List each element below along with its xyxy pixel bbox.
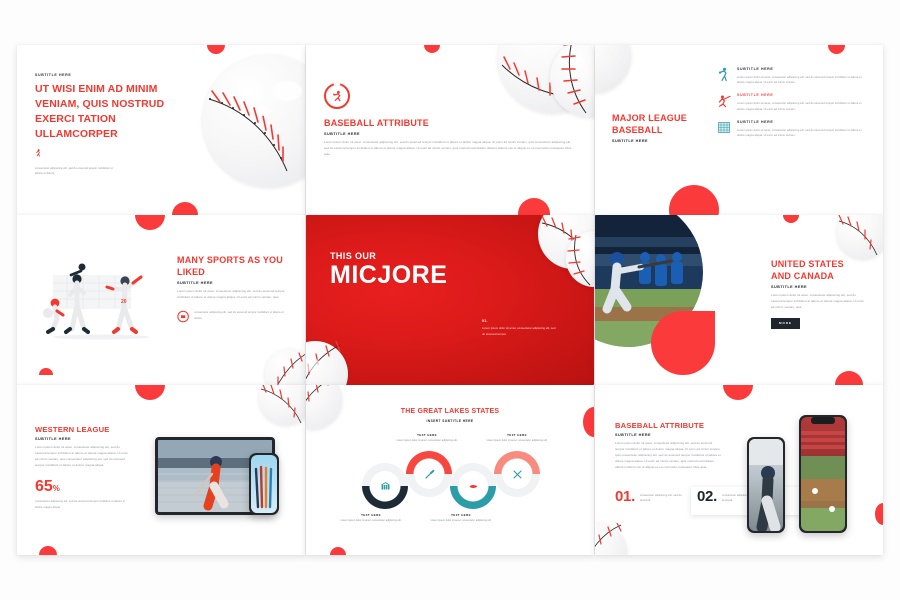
section-title: WESTERN LEAGUE — [35, 425, 129, 435]
status-badge: 65% — [35, 479, 129, 495]
slide-many-sports[interactable]: 20 MANY SPORTS AS YOU LIKED SUBTITLE HER… — [17, 215, 305, 385]
svg-text:20: 20 — [121, 299, 127, 305]
blob-top — [783, 215, 799, 223]
blob-top — [723, 385, 753, 400]
feature-heading: SUBTITLE HERE — [737, 120, 869, 124]
step-arc-2[interactable] — [406, 451, 452, 497]
title-body-text: consectetur adipiscing elit, sed do eius… — [35, 166, 113, 177]
step-label-3: TEXT HERE Lorem ipsum dolor sit amet, co… — [430, 513, 492, 523]
step-label: TEXT HERE — [430, 513, 492, 517]
phone-screen-small — [749, 439, 783, 531]
usca-text-block: UNITED STATES AND CANADA SUBTITLE HERE L… — [771, 259, 865, 329]
section-body-text: Lorem ipsum dolor sit amet, consectetur … — [177, 289, 287, 301]
blob-bottom-small — [39, 368, 53, 375]
blob-bottom — [172, 202, 198, 215]
young-batter-photo[interactable] — [747, 437, 785, 533]
stat-unit: % — [53, 484, 60, 493]
blob-bottom — [330, 547, 346, 555]
western-text-block: WESTERN LEAGUE SUBTITLE HERE Lorem ipsum… — [35, 425, 129, 510]
more-button[interactable]: MORE — [771, 318, 800, 329]
hero-title-block: THIS OUR MICJORE — [330, 251, 447, 288]
feature-list: SUBTITLE HERE Lorem ipsum dolor sit amet… — [717, 67, 869, 146]
stadium-figures — [801, 417, 845, 531]
slide-united-states[interactable]: UNITED STATES AND CANADA SUBTITLE HERE L… — [595, 215, 883, 385]
blob-bottom — [835, 371, 863, 385]
section-subtitle: SUBTITLE HERE — [615, 433, 721, 437]
blob-overlap — [651, 311, 715, 375]
phone-photo-bats — [251, 455, 277, 513]
runner-icon — [35, 149, 42, 158]
section-body-text: Lorem ipsum dolor sit amet, consectetur … — [35, 445, 129, 469]
step-body: Lorem ipsum dolor sit amet, consectetur … — [484, 439, 550, 444]
slide-baseball-attribute[interactable]: BASEBALL ATTRIBUTE SUBTITLE HERE Lorem i… — [306, 45, 594, 215]
section-title: UNITED STATES AND CANADA — [771, 259, 865, 283]
hero-brand: MICJORE — [330, 263, 447, 288]
note-row: consectetur adipiscing elit, sed do eius… — [177, 310, 287, 323]
feature-body: Lorem ipsum dolor sit amet, consectetur … — [737, 101, 869, 112]
item-body: consectetur adipiscing elit, sed do eius… — [640, 493, 682, 504]
list-item[interactable]: SUBTITLE HERE Lorem ipsum dolor sit amet… — [717, 93, 869, 112]
glove-icon — [468, 481, 479, 492]
hero-body: Lorem ipsum dolor sit amet, consectetur … — [482, 326, 556, 337]
section-body-text: Lorem ipsum dolor sit amet, consectetur … — [615, 441, 721, 471]
stat-body-text: Consectetur adipiscing elit, sed do eius… — [35, 499, 129, 510]
baseball-decoration — [265, 349, 305, 385]
stadium-photo[interactable] — [799, 415, 847, 533]
arc-icon-holder — [458, 471, 488, 501]
section-title: BASEBALL ATTRIBUTE — [615, 421, 721, 431]
baseball-decoration-second — [566, 231, 594, 287]
arc-icon-holder — [502, 459, 532, 489]
baseball-seam-icon — [259, 385, 305, 425]
pitcher-icon — [717, 67, 731, 82]
step-label: TEXT HERE — [394, 433, 460, 437]
baseball-seam-icon — [306, 341, 348, 385]
section-subtitle: INSERT SUBTITLE HERE — [306, 419, 594, 423]
slide-deck: SUBTITLE HERE UT WISI ENIM AD MINIM VENI… — [0, 0, 900, 600]
phone-screen-large — [801, 417, 845, 531]
crossed-bats-icon — [512, 469, 523, 480]
section-body-text: Lorem ipsum dolor sit amet, consectetur … — [324, 140, 572, 158]
baseball-seam-icon — [550, 45, 594, 117]
infographic-heading: THE GREAT LAKES STATES INSERT SUBTITLE H… — [306, 407, 594, 423]
phone-device[interactable] — [249, 453, 279, 515]
section-subtitle: SUBTITLE HERE — [324, 132, 574, 136]
sports-text-block: MANY SPORTS AS YOU LIKED SUBTITLE HERE L… — [177, 255, 287, 323]
baseball-seam-icon — [595, 523, 627, 555]
baseball-seam-icon — [265, 349, 305, 385]
step-arc-4[interactable] — [494, 451, 540, 497]
hero-number: 01. — [482, 319, 556, 323]
baseball-decoration-bottom — [306, 341, 348, 385]
hero-note-block: 01. Lorem ipsum dolor sit amet, consecte… — [482, 319, 556, 337]
attribute-text-block: BASEBALL ATTRIBUTE SUBTITLE HERE Lorem i… — [324, 118, 574, 158]
slide-attribute-mobile[interactable]: BASEBALL ATTRIBUTE SUBTITLE HERE Lorem i… — [595, 385, 883, 555]
baseball-decoration-second — [550, 45, 594, 117]
blob-bottom — [518, 198, 550, 215]
phone-screen — [251, 455, 277, 513]
section-subtitle: SUBTITLE HERE — [612, 139, 700, 143]
blob-top — [828, 45, 845, 54]
section-subtitle: SUBTITLE HERE — [771, 285, 865, 289]
blob-bottom — [39, 546, 57, 555]
blob-top — [135, 385, 165, 400]
blob-right — [875, 503, 883, 525]
hero-eyebrow: THIS OUR — [330, 251, 447, 261]
baseball-decoration — [259, 385, 305, 425]
feature-body: Lorem ipsum dolor sit amet, consectetur … — [737, 128, 869, 139]
step-label: TEXT HERE — [340, 513, 402, 517]
baseball-decoration — [837, 215, 883, 259]
blob-top — [135, 215, 165, 230]
step-label-4: TEXT HERE Lorem ipsum dolor sit amet, co… — [484, 433, 550, 443]
slide-great-lakes[interactable]: THE GREAT LAKES STATES INSERT SUBTITLE H… — [306, 385, 594, 555]
feature-body: Lorem ipsum dolor sit amet, consectetur … — [737, 75, 869, 86]
net-icon — [717, 120, 731, 135]
section-title: THE GREAT LAKES STATES — [306, 407, 594, 416]
blob-top — [424, 45, 440, 53]
baseball-decoration — [595, 45, 631, 93]
section-title: BASEBALL ATTRIBUTE — [324, 118, 574, 130]
step-body: Lorem ipsum dolor sit amet, consectetur … — [340, 519, 402, 524]
blob-bottom — [669, 185, 719, 215]
list-item[interactable]: SUBTITLE HERE Lorem ipsum dolor sit amet… — [717, 120, 869, 139]
item-number: 02. — [697, 489, 717, 504]
section-subtitle: SUBTITLE HERE — [35, 437, 129, 441]
slide-hero[interactable]: THIS OUR MICJORE 01. Lorem ipsum dolor s… — [306, 215, 594, 385]
item-number: 01. — [615, 489, 635, 504]
baseball-seam-icon — [595, 45, 631, 93]
baseball-seam-icon — [837, 215, 883, 259]
stadium-icon — [380, 481, 391, 492]
slide-major-league[interactable]: MAJOR LEAGUE BASEBALL SUBTITLE HERE SUBT… — [595, 45, 883, 215]
pitcher-icon — [331, 90, 344, 103]
title-block: SUBTITLE HERE UT WISI ENIM AD MINIM VENI… — [35, 73, 175, 177]
list-item-1[interactable]: 01. consectetur adipiscing elit, sed do … — [615, 489, 682, 504]
baseball-seam-icon — [566, 231, 594, 287]
feature-heading: SUBTITLE HERE — [737, 67, 869, 71]
arc-icon-holder — [414, 459, 444, 489]
step-label-2: TEXT HERE Lorem ipsum dolor sit amet, co… — [394, 433, 460, 443]
note-text: consectetur adipiscing elit, sed do eius… — [194, 310, 287, 321]
blob-top — [207, 45, 225, 54]
arc-icon-holder — [370, 471, 400, 501]
step-body: Lorem ipsum dolor sit amet, consectetur … — [394, 439, 460, 444]
badge-icon — [177, 310, 189, 323]
baseball-decoration — [203, 55, 305, 187]
slide-title[interactable]: SUBTITLE HERE UT WISI ENIM AD MINIM VENI… — [17, 45, 305, 215]
baseball-decoration — [595, 523, 627, 555]
stat-value: 65 — [35, 478, 53, 495]
section-title: MAJOR LEAGUE BASEBALL — [612, 113, 700, 137]
step-label: TEXT HERE — [484, 433, 550, 437]
batter-icon — [717, 93, 731, 108]
step-body: Lorem ipsum dolor sit amet, consectetur … — [430, 519, 492, 524]
page-title: UT WISI ENIM AD MINIM VENIAM, QUIS NOSTR… — [35, 82, 175, 142]
step-label-1: TEXT HERE Lorem ipsum dolor sit amet, co… — [340, 513, 402, 523]
section-subtitle: SUBTITLE HERE — [177, 281, 287, 285]
baseball-seam-icon — [203, 55, 305, 187]
young-batter-figure — [749, 439, 783, 531]
league-heading-block: MAJOR LEAGUE BASEBALL SUBTITLE HERE — [612, 113, 700, 143]
step-arc-3[interactable] — [450, 463, 496, 509]
attribute-text-block: BASEBALL ATTRIBUTE SUBTITLE HERE Lorem i… — [615, 421, 721, 471]
step-arc-1[interactable] — [362, 463, 408, 509]
feature-heading: SUBTITLE HERE — [737, 93, 869, 97]
baseball-players-illustration: 20 — [37, 253, 165, 345]
section-title: MANY SPORTS AS YOU LIKED — [177, 255, 287, 279]
slide-western-league[interactable]: WESTERN LEAGUE SUBTITLE HERE Lorem ipsum… — [17, 385, 305, 555]
bat-icon — [424, 469, 435, 480]
section-body-text: Lorem ipsum dolor sit amet, consectetur … — [771, 293, 865, 311]
list-item[interactable]: SUBTITLE HERE Lorem ipsum dolor sit amet… — [717, 67, 869, 86]
kicker-label: SUBTITLE HERE — [35, 73, 175, 77]
pitcher-circle-icon — [324, 83, 350, 109]
